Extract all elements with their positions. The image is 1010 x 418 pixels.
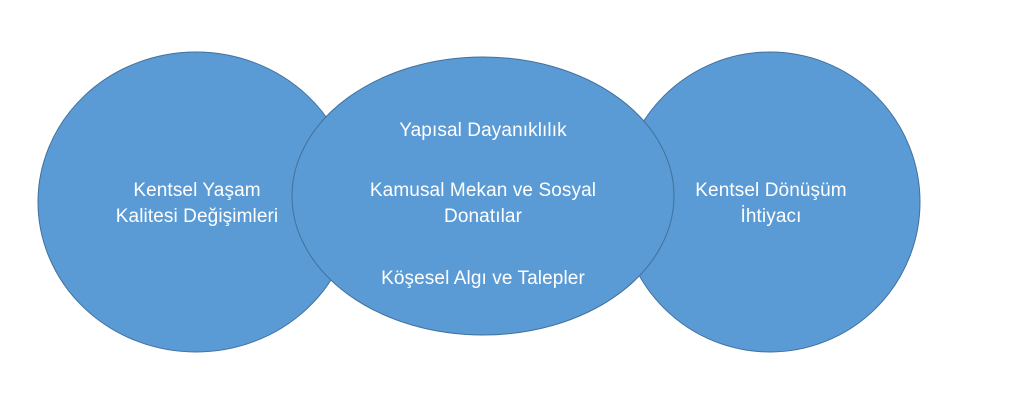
venn-diagram-canvas: Kentsel Yaşam Kalitesi Değişimleri Yapıs… — [0, 0, 1010, 418]
venn-shapes-layer — [0, 0, 1010, 418]
venn-ellipse-middle[interactable] — [292, 57, 674, 335]
